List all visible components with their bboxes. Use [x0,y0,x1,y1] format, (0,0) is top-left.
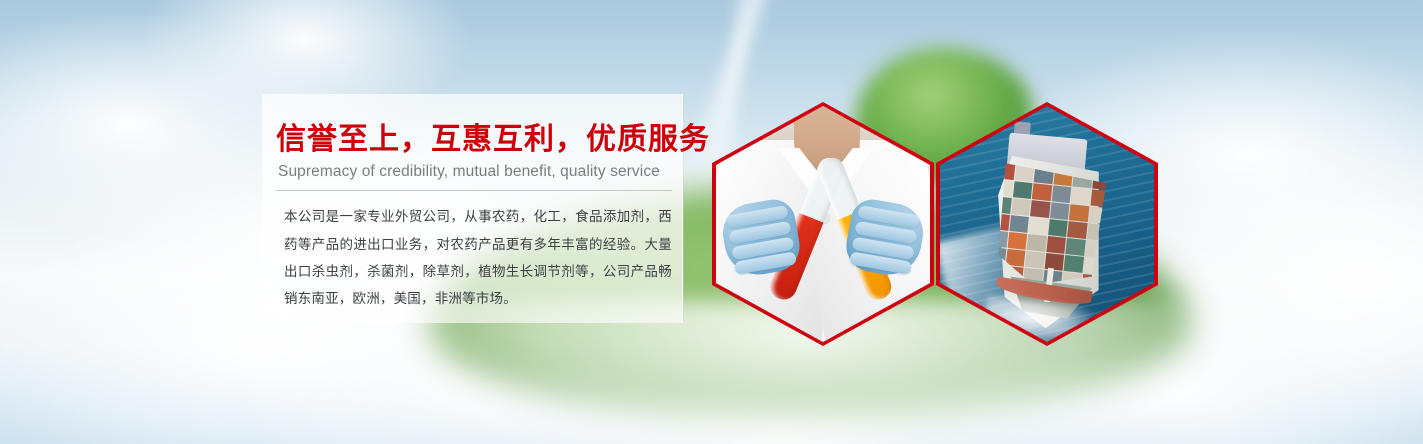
hexagon-clip [716,106,930,342]
company-description: 本公司是一家专业外贸公司，从事农药，化工，食品添加剂，西药等产品的进出口业务，对… [284,204,672,313]
cargo-ship-photo [940,106,1154,342]
slogan-panel: 信誉至上，互惠互利，优质服务 Supremacy of credibility,… [262,94,683,323]
laboratory-photo [716,106,930,342]
hexagon-image-laboratory [712,102,934,346]
cloud-shape [1150,130,1423,430]
slogan-subtitle-english: Supremacy of credibility, mutual benefit… [278,163,664,181]
slogan-title: 信誉至上，互惠互利，优质服务 [276,122,664,157]
hexagon-image-cargo-ship [936,102,1158,346]
hexagon-clip [940,106,1154,342]
company-hero-banner: 信誉至上，互惠互利，优质服务 Supremacy of credibility,… [0,0,1423,444]
panel-divider [276,190,672,191]
